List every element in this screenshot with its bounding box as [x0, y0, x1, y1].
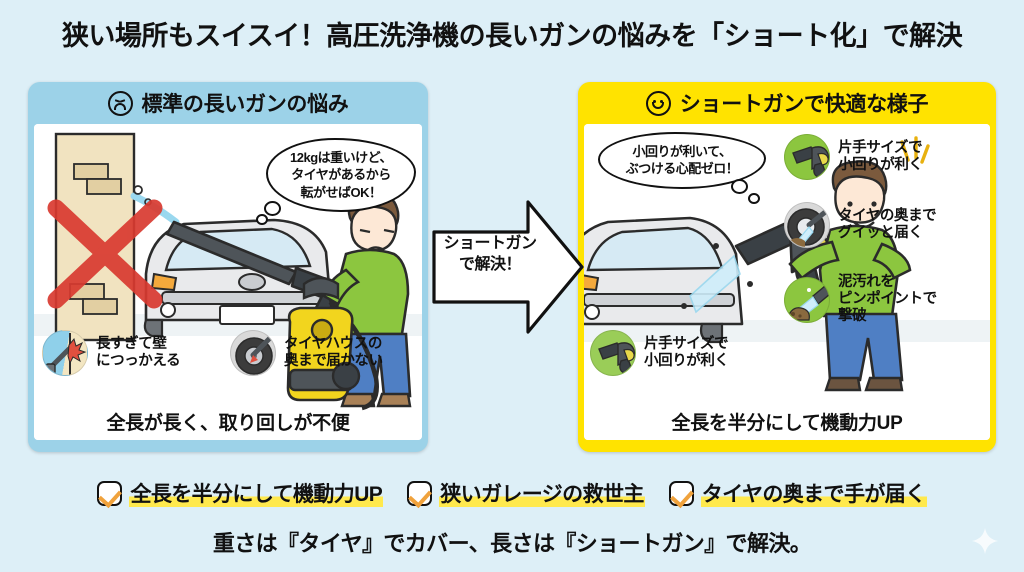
right-panel-body: 小回りが利いて、 ぶつける心配ゼロ！ 片手サイズで 小回りが利く [584, 124, 990, 440]
right-feature-0-label: 片手サイズで 小回りが利く [838, 140, 923, 174]
check-box-icon [97, 481, 122, 506]
left-feature-0: 長すぎて壁 につっかえる [42, 330, 218, 376]
right-feature-0: 片手サイズで 小回りが利く [784, 134, 984, 180]
tagline: 重さは『タイヤ』でカバー、長さは『ショートガン』で解決。 [0, 526, 1024, 558]
right-feature-1-label: タイヤの奥まで グイッと届く [838, 208, 936, 242]
benefit-label-1: 狭いガレージの救世主 [439, 478, 645, 508]
right-panel-caption: 全長を半分にして機動力UP [584, 408, 990, 435]
left-panel-problem: 標準の長いガンの悩み [28, 82, 428, 452]
benefit-label-0: 全長を半分にして機動力UP [129, 478, 383, 508]
check-box-icon [669, 481, 694, 506]
benefit-item-1: 狭いガレージの救世主 [407, 478, 645, 508]
right-panel-header: ショートガンで快適な様子 [578, 82, 996, 124]
right-feature-2: 片手サイズで 小回りが利く [590, 330, 782, 376]
sparkle-icon [972, 528, 998, 554]
short-gun-icon [784, 134, 830, 180]
right-panel-header-label: ショートガンで快適な様子 [680, 88, 928, 118]
arrow-label: ショートガン で解決！ [438, 234, 542, 276]
left-feature-1: タイヤハウスの 奥まで届かない [230, 330, 420, 376]
left-panel-header: 標準の長いガンの悩み [28, 82, 428, 124]
right-panel-solution: ショートガンで快適な様子 [578, 82, 996, 452]
benefit-item-0: 全長を半分にして機動力UP [97, 478, 383, 508]
smile-face-icon [646, 91, 671, 116]
check-box-icon [407, 481, 432, 506]
transition-arrow: ショートガン で解決！ [432, 196, 584, 338]
right-feature-2-label: 片手サイズで 小回りが利く [644, 336, 729, 370]
page-title: 狭い場所もスイスイ！高圧洗浄機の長いガンの悩みを「ショート化」で解決 [0, 14, 1024, 53]
right-speech-bubble: 小回りが利いて、 ぶつける心配ゼロ！ [598, 132, 766, 189]
sad-face-icon [108, 91, 133, 116]
left-panel-header-label: 標準の長いガンの悩み [142, 88, 349, 118]
tire-reach-icon [784, 202, 830, 248]
left-panel-caption: 全長が長く、取り回しが不便 [34, 408, 422, 435]
left-panel-body: 12kgは重いけど、 タイヤがあるから 転がせばOK！ 長すぎて壁 につっかえる [34, 124, 422, 440]
left-feature-0-label: 長すぎて壁 につっかえる [96, 336, 180, 370]
right-feature-3-label: 泥汚れを ピンポイントで 撃破 [838, 274, 937, 325]
gun-hitting-wall-icon [42, 330, 88, 376]
infographic-canvas: 狭い場所もスイスイ！高圧洗浄機の長いガンの悩みを「ショート化」で解決 標準の長い… [0, 0, 1024, 572]
benefits-check-row: 全長を半分にして機動力UP 狭いガレージの救世主 タイヤの奥まで手が届く [0, 478, 1024, 508]
benefit-item-2: タイヤの奥まで手が届く [669, 478, 927, 508]
mud-blast-icon [784, 277, 830, 323]
right-feature-3: 泥汚れを ピンポイントで 撃破 [784, 274, 990, 325]
left-feature-1-label: タイヤハウスの 奥まで届かない [284, 336, 383, 370]
short-gun-icon [590, 330, 636, 376]
tire-blocked-icon [230, 330, 276, 376]
right-feature-1: タイヤの奥まで グイッと届く [784, 202, 990, 248]
benefit-label-2: タイヤの奥まで手が届く [701, 478, 927, 508]
